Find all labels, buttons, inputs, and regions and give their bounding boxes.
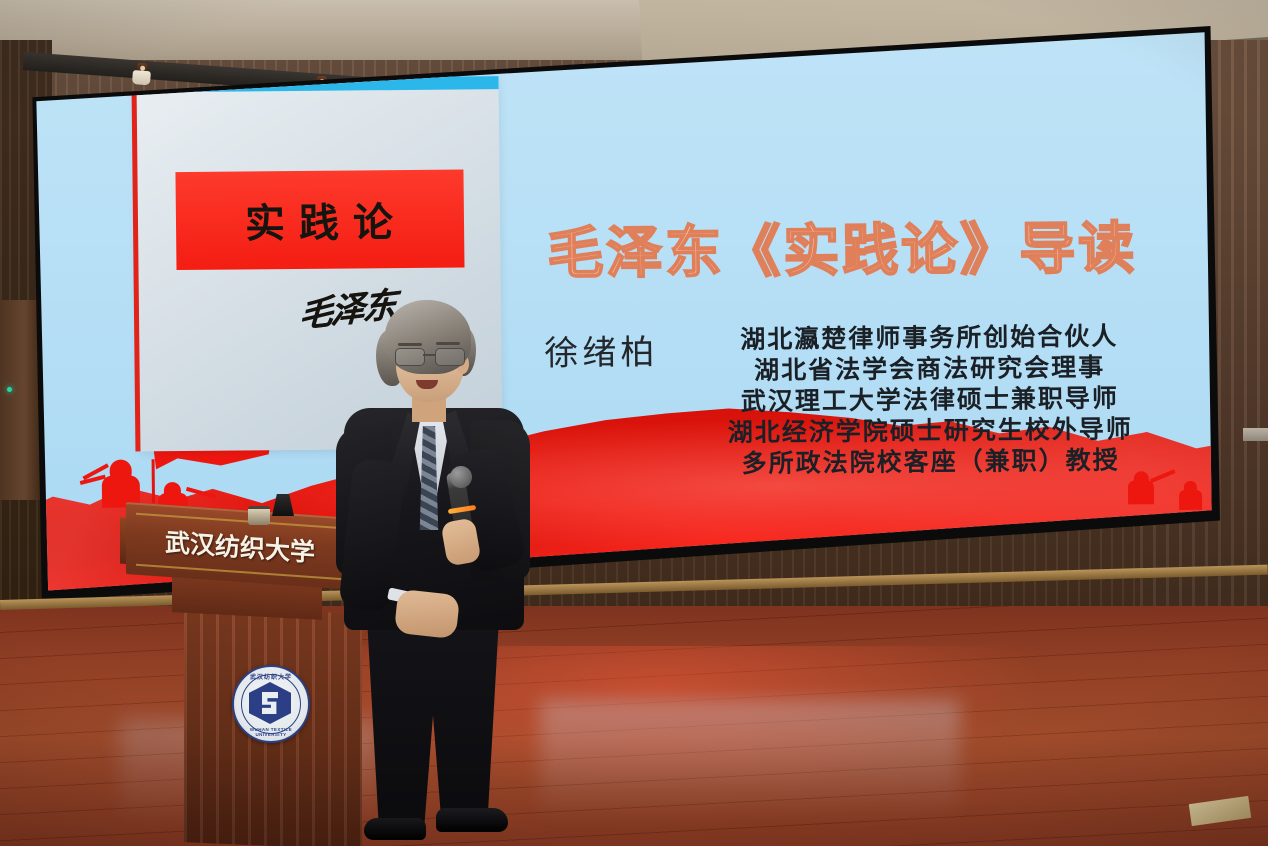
eyeglass-bridge <box>423 354 435 356</box>
speaker-credentials: 湖北瀛楚律师事务所创始合伙人 湖北省法学会商法研究会理事 武汉理工大学法律硕士兼… <box>694 321 1166 480</box>
stage-light <box>132 62 152 85</box>
speaker-left-shoe <box>364 818 426 840</box>
speaker-legs <box>358 618 508 830</box>
status-led-indicator <box>7 387 12 392</box>
book-title-text: 实 践 论 <box>175 169 464 270</box>
speaker-resting-hand <box>394 589 460 639</box>
stage-light-bulb <box>139 66 144 71</box>
credential-line: 湖北经济学院硕士研究生校外导师 <box>695 414 1165 449</box>
speaker-eyebrow-left <box>398 343 422 346</box>
speaker-person <box>330 300 540 846</box>
stage-light-shade <box>132 70 151 85</box>
credential-line: 湖北省法学会商法研究会理事 <box>694 352 1164 387</box>
university-emblem: 武汉纺织大学 WUHAN TEXTILE UNIVERSITY <box>232 665 310 743</box>
eyeglass-lens-right <box>435 348 465 366</box>
speaker-name: 徐绪柏 <box>544 325 659 375</box>
emblem-text-chinese: 武汉纺织大学 <box>234 672 308 681</box>
person-silhouette-body <box>1179 490 1202 510</box>
lectern-equipment-cylinder <box>248 506 270 525</box>
emblem-text-english: WUHAN TEXTILE UNIVERSITY <box>234 727 308 737</box>
speaker-right-shoe <box>436 808 508 832</box>
flagpole <box>152 459 155 503</box>
lectern-university-name: 武汉纺织大学 <box>126 502 354 590</box>
credential-line: 武汉理工大学法律硕士兼职导师 <box>695 383 1165 418</box>
book-spine-stripe <box>131 79 140 451</box>
lectern: 武汉纺织大学 武汉纺织大学 WUHAN TEXTILE UNIVERSITY <box>120 500 360 846</box>
credential-line: 湖北瀛楚律师事务所创始合伙人 <box>694 321 1164 356</box>
floor-screen-reflection <box>540 700 960 846</box>
wall-plate <box>1243 428 1268 441</box>
eyeglass-lens-left <box>395 348 425 366</box>
speaker-eyeglasses <box>393 348 469 364</box>
person-silhouette-body <box>1128 480 1154 504</box>
credential-line: 多所政法院校客座（兼职）教授 <box>695 445 1165 480</box>
lecture-hall-photo: 实 践 论 毛泽东 毛泽东《实践论》导读 徐绪柏 湖北瀛楚律师事务所创始合伙人 … <box>0 0 1268 846</box>
speaker-eyebrow-right <box>436 342 460 345</box>
slide-title: 毛泽东《实践论》导读 <box>547 203 1208 290</box>
